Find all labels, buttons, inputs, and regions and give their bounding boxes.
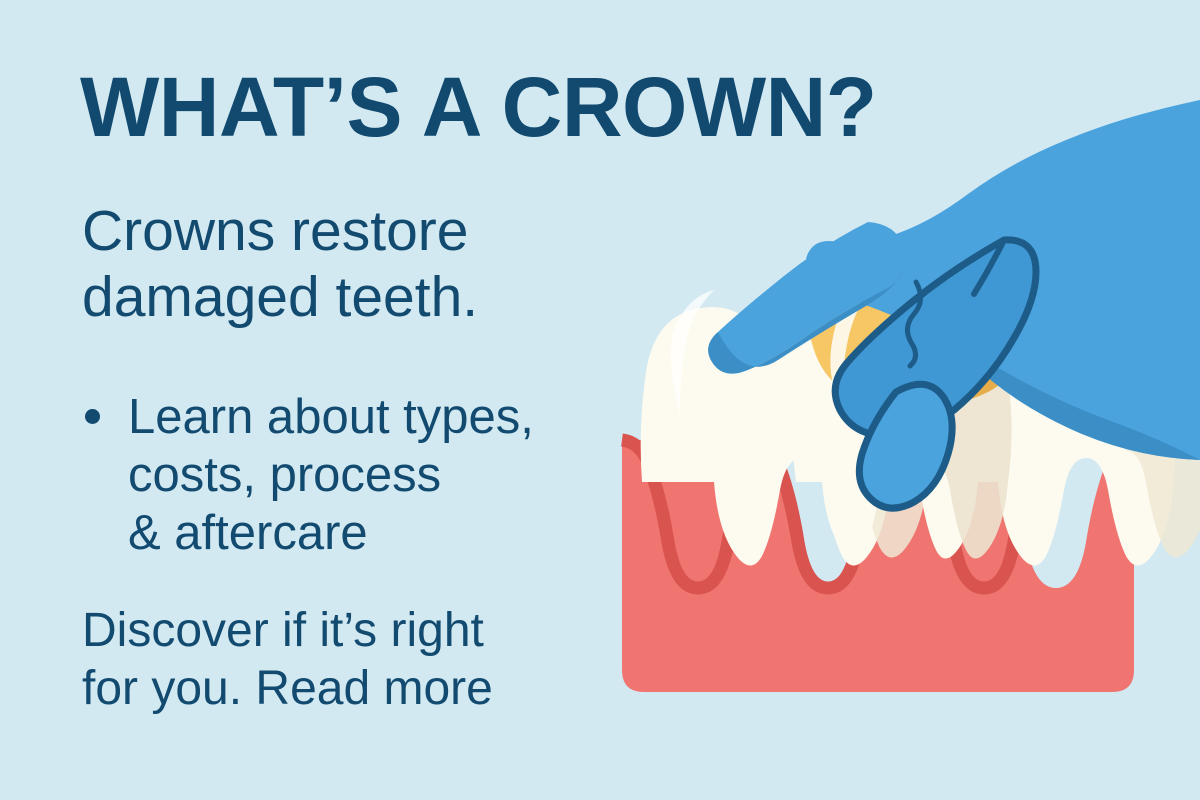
call-to-action-line-1: Discover if it’s right xyxy=(82,602,627,660)
text-column: WHAT’S A CROWN? Crowns restore damaged t… xyxy=(80,0,640,800)
subheading-line-2: damaged teeth. xyxy=(82,264,622,330)
list-item-line-1: Learn about types, xyxy=(128,388,627,446)
bullet-dot-icon xyxy=(85,409,100,424)
dental-crown-illustration xyxy=(600,100,1200,720)
call-to-action-line-2: for you. Read more xyxy=(82,660,627,718)
list-item-label: Learn about types, costs, process & afte… xyxy=(128,388,627,562)
list-item-line-3: & aftercare xyxy=(128,504,627,562)
subheading-line-1: Crowns restore xyxy=(82,198,622,264)
call-to-action-text[interactable]: Discover if it’s right for you. Read mor… xyxy=(82,602,627,718)
subheading: Crowns restore damaged teeth. xyxy=(82,198,622,330)
dental-crown-infographic-poster: WHAT’S A CROWN? Crowns restore damaged t… xyxy=(0,0,1200,800)
bullet-list: Learn about types, costs, process & afte… xyxy=(82,388,627,562)
list-item: Learn about types, costs, process & afte… xyxy=(82,388,627,562)
list-item-line-2: costs, process xyxy=(128,446,627,504)
